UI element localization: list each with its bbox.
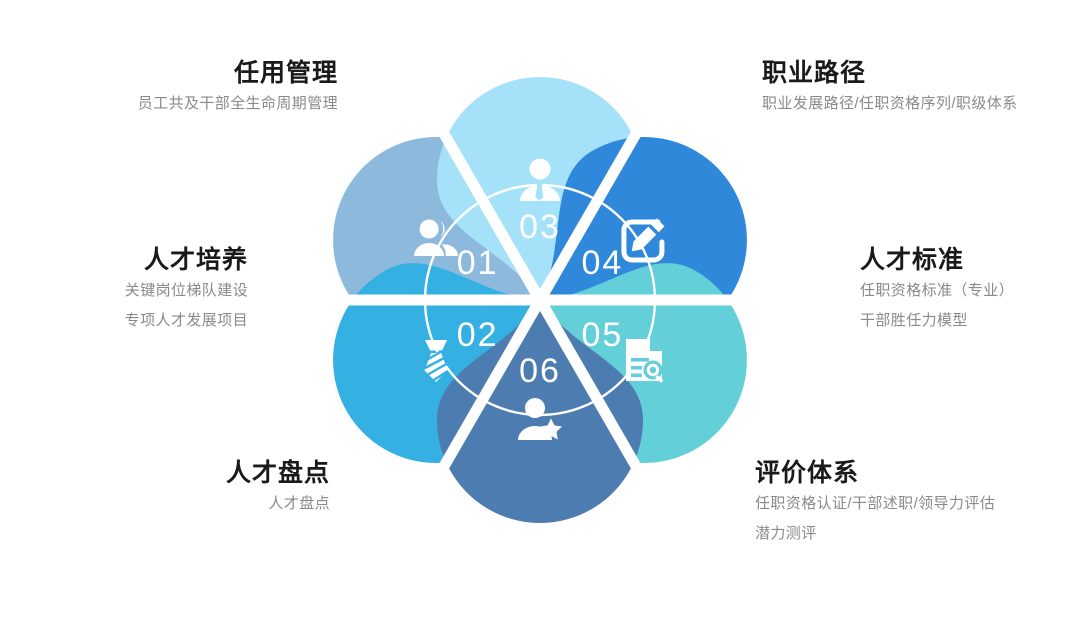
segment-title-01: 任用管理: [8, 58, 338, 89]
segment-title-03: 人才标准: [860, 245, 1080, 276]
segment-subtitle-06-line-2: 专项人才发展项目: [8, 306, 248, 335]
segment-title-06: 人才培养: [8, 245, 248, 276]
label-block-04: 评价体系 任职资格认证/干部述职/领导力评估 潜力测评: [755, 458, 1080, 548]
segment-title-04: 评价体系: [755, 458, 1080, 489]
segment-number-03: 03: [519, 208, 561, 246]
segment-number-04: 04: [581, 244, 623, 282]
segment-number-06: 06: [519, 352, 561, 390]
segment-subtitle-03-line-2: 干部胜任力模型: [860, 306, 1080, 335]
segment-subtitle-01-line-1: 员工共及干部全生命周期管理: [8, 89, 338, 118]
segment-title-02: 职业路径: [762, 58, 1077, 89]
segment-subtitle-05-line-1: 人才盘点: [80, 489, 330, 518]
label-block-06: 人才培养 关键岗位梯队建设 专项人才发展项目: [8, 245, 248, 335]
segment-subtitle-04-line-1: 任职资格认证/干部述职/领导力评估: [755, 489, 1080, 518]
label-block-02: 职业路径 职业发展路径/任职资格序列/职级体系: [762, 58, 1077, 119]
infographic-canvas: 010203040506 任用管理 员工共及干部全生命周期管理 职业路径 职业发…: [0, 0, 1081, 626]
segment-subtitle-02-line-1: 职业发展路径/任职资格序列/职级体系: [762, 89, 1077, 118]
segment-subtitle-03-line-1: 任职资格标准（专业）: [860, 276, 1080, 305]
segment-number-01: 01: [457, 244, 499, 282]
label-block-01: 任用管理 员工共及干部全生命周期管理: [8, 58, 338, 119]
segment-subtitle-04-line-2: 潜力测评: [755, 519, 1080, 548]
segment-title-05: 人才盘点: [80, 458, 330, 489]
segment-subtitle-06-line-1: 关键岗位梯队建设: [8, 276, 248, 305]
label-block-05: 人才盘点 人才盘点: [80, 458, 330, 519]
segment-number-02: 02: [457, 316, 499, 354]
label-block-03: 人才标准 任职资格标准（专业） 干部胜任力模型: [860, 245, 1080, 335]
segment-number-05: 05: [581, 316, 623, 354]
